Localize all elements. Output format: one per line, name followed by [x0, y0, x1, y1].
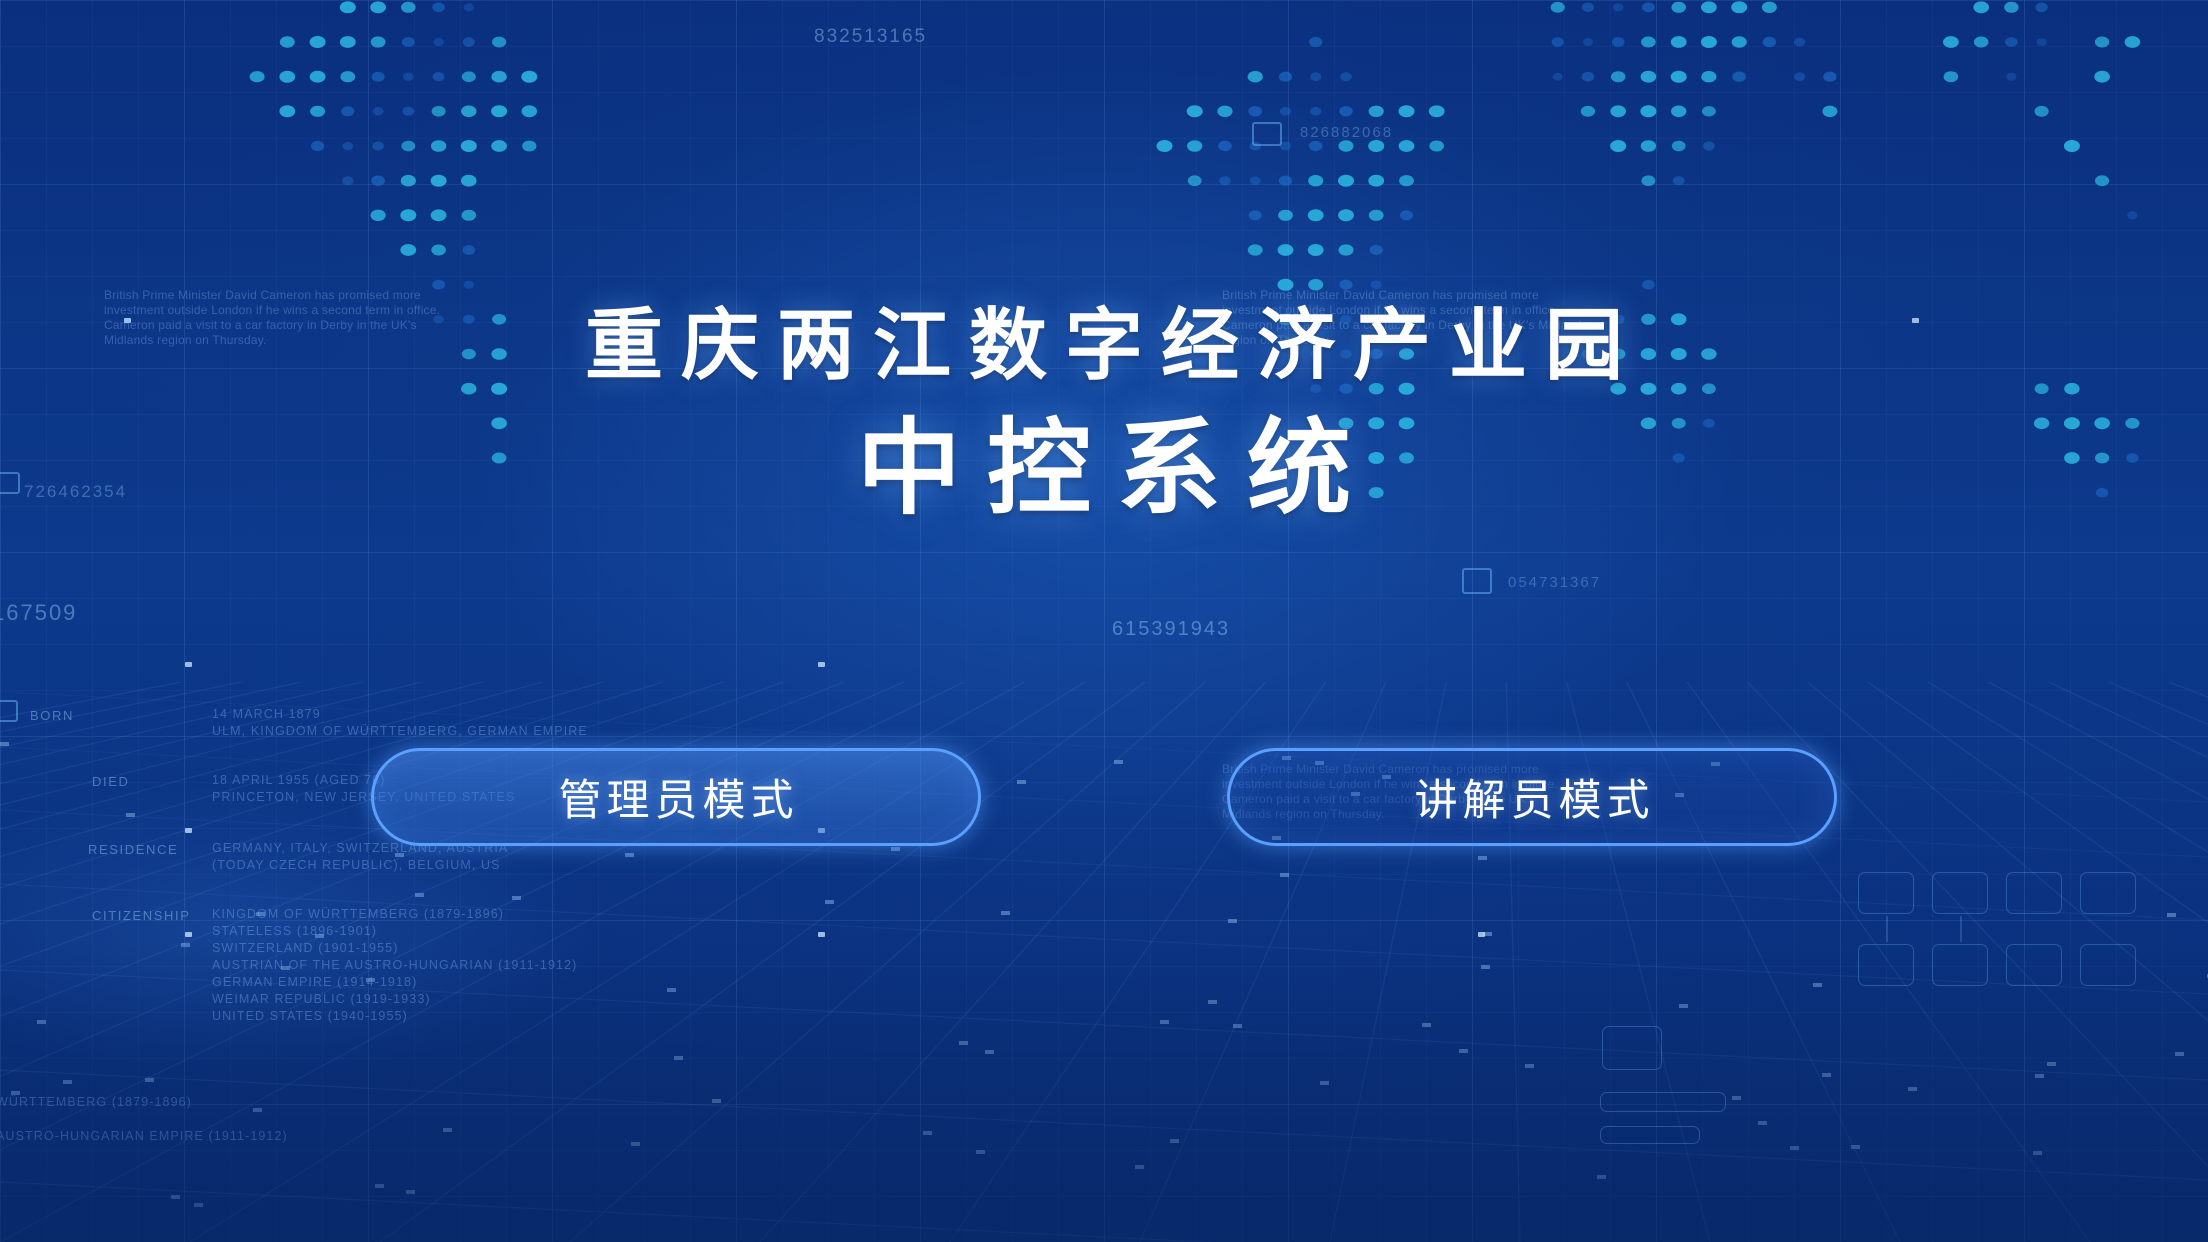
- deco-number-1: 832513165: [814, 26, 927, 48]
- deco-number-5: 615391943: [1112, 618, 1230, 641]
- deco-chip: [1858, 944, 1914, 986]
- info-value-citizenship: KINGDOM OF WÜRTTEMBERG (1879-1896) STATE…: [212, 906, 577, 1025]
- deco-chip-bar: [1600, 1092, 1726, 1112]
- info-value-born: 14 MARCH 1879 ULM, KINGDOM OF WÜRTTEMBER…: [212, 706, 588, 740]
- deco-square-icon-3: [1462, 568, 1492, 594]
- deco-number-6: 054731367: [1508, 574, 1601, 591]
- tick-dot: [1912, 318, 1919, 323]
- deco-chip: [1858, 872, 1914, 914]
- deco-chip-lock: [1602, 1026, 1662, 1070]
- deco-connector: [1886, 916, 1888, 942]
- deco-chip: [2006, 872, 2062, 914]
- deco-chip-bar: [1600, 1126, 1700, 1144]
- major-grid-overlay: [0, 0, 2208, 1242]
- deco-paragraph-center: British Prime Minister David Cameron has…: [1222, 288, 1602, 348]
- footer-line-1: WÜRTTEMBERG (1879-1896): [0, 1094, 192, 1111]
- world-dot-map: [0, 0, 2208, 510]
- deco-square-icon-4: [0, 700, 18, 722]
- bottom-vignette: [0, 942, 2208, 1242]
- deco-square-icon-2: [0, 472, 20, 494]
- page-title: 重庆两江数字经济产业园: [0, 300, 2208, 390]
- splash-screen: 832513165 826882068 726462354 167509 615…: [0, 0, 2208, 1242]
- deco-chip: [2080, 944, 2136, 986]
- tick-dot: [185, 662, 192, 667]
- tick-dot: [124, 318, 131, 323]
- deco-chip: [2006, 944, 2062, 986]
- deco-number-3: 726462354: [24, 482, 127, 502]
- tick-dot: [185, 932, 192, 937]
- info-label-born: BORN: [30, 708, 74, 723]
- tick-dot: [1478, 932, 1485, 937]
- title-block: 重庆两江数字经济产业园 中控系统: [0, 300, 2208, 527]
- fine-grid-overlay: [0, 0, 2208, 1242]
- deco-chip: [2080, 872, 2136, 914]
- guide-mode-button[interactable]: 讲解员模式: [1227, 748, 1837, 846]
- deco-connector: [1960, 916, 1962, 942]
- tick-dot: [818, 662, 825, 667]
- deco-chip: [1932, 944, 1988, 986]
- deco-paragraph-left: British Prime Minister David Cameron has…: [104, 288, 464, 348]
- tick-dot: [818, 932, 825, 937]
- footer-line-2: AUSTRO-HUNGARIAN EMPIRE (1911-1912): [0, 1128, 288, 1145]
- deco-chip: [1932, 872, 1988, 914]
- mode-button-row: 管理员模式 讲解员模式: [0, 748, 2208, 846]
- info-label-citizenship: CITIZENSHIP: [92, 908, 191, 923]
- page-subtitle: 中控系统: [0, 412, 2208, 526]
- deco-number-2: 826882068: [1300, 124, 1393, 141]
- deco-square-icon-1: [1252, 122, 1282, 146]
- deco-number-4: 167509: [0, 600, 77, 626]
- admin-mode-button[interactable]: 管理员模式: [371, 748, 981, 846]
